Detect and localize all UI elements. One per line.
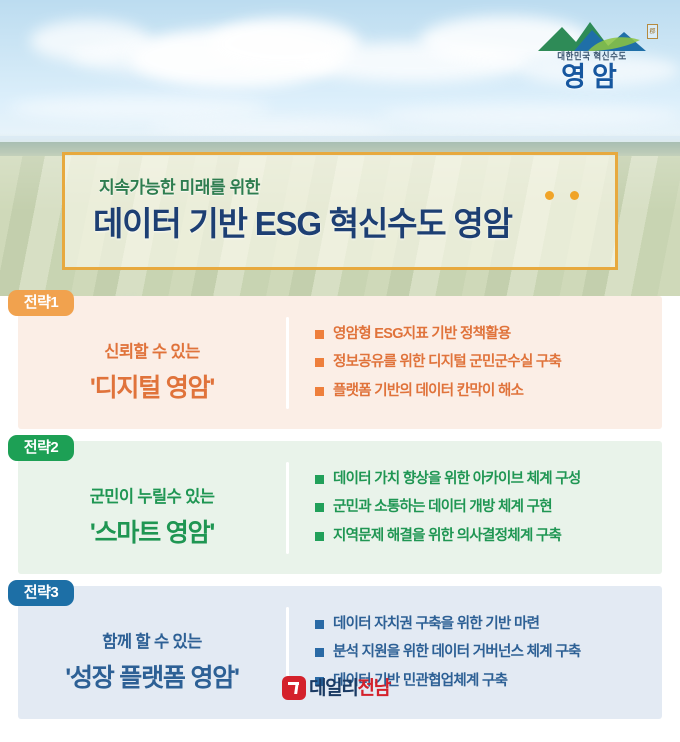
list-item: 데이터 자치권 구축을 위한 기반 마련 [315, 615, 648, 633]
cloud-shape [380, 104, 680, 126]
strategy-name-2: '스마트 영암' [18, 513, 286, 549]
title-subtitle: 지속가능한 미래를 위한 [99, 173, 260, 198]
page-title: 데이터 기반 ESG 혁신수도 영암 [93, 197, 512, 245]
list-item: 군민과 소통하는 데이터 개방 체계 구현 [315, 498, 648, 516]
strategy-lead-3: 함께 할 수 있는 [18, 628, 286, 652]
bullet-text: 영암형 ESG지표 기반 정책활용 [333, 325, 511, 343]
bullet-text: 데이터 가치 향상을 위한 아카이브 체계 구성 [333, 470, 581, 488]
strategy-card-3: 전략3 함께 할 수 있는 '성장 플랫폼 영암' 데이터 자치권 구축을 위한… [18, 586, 662, 719]
strategy-lead-1: 신뢰할 수 있는 [18, 338, 286, 362]
list-item: 데이터 가치 향상을 위한 아카이브 체계 구성 [315, 470, 648, 488]
list-item: 영암형 ESG지표 기반 정책활용 [315, 325, 648, 343]
bullet-text: 데이터 자치권 구축을 위한 기반 마련 [333, 615, 539, 633]
strategy-heading-1: 신뢰할 수 있는 '디지털 영암' [18, 322, 286, 404]
seal-icon: 郡 [647, 24, 658, 39]
strategy-card-2: 전략2 군민이 누릴수 있는 '스마트 영암' 데이터 가치 향상을 위한 아카… [18, 441, 662, 574]
strategy-bullets-2: 데이터 가치 향상을 위한 아카이브 체계 구성 군민과 소통하는 데이터 개방… [289, 460, 662, 554]
list-item: 분석 지원을 위한 데이터 거버넌스 체계 구축 [315, 643, 648, 661]
square-bullet-icon [315, 475, 324, 484]
list-item: 정보공유를 위한 디지털 군민군수실 구축 [315, 353, 648, 371]
bullet-text: 분석 지원을 위한 데이터 거버넌스 체계 구축 [333, 643, 581, 661]
strategy-list: 전략1 신뢰할 수 있는 '디지털 영암' 영암형 ESG지표 기반 정책활용 … [0, 296, 680, 731]
strategy-badge-1: 전략1 [8, 290, 74, 316]
strategy-bullets-1: 영암형 ESG지표 기반 정책활용 정보공유를 위한 디지털 군민군수실 구축 … [289, 315, 662, 409]
accent-dot-icon [545, 191, 554, 200]
logo-city-name: 영암 [528, 63, 656, 91]
strategy-heading-2: 군민이 누릴수 있는 '스마트 영암' [18, 467, 286, 549]
footer-strip [0, 720, 680, 742]
cloud-shape [150, 118, 390, 136]
square-bullet-icon [315, 503, 324, 512]
bullet-text: 플랫폼 기반의 데이터 칸막이 해소 [333, 382, 523, 400]
infographic-page: 대한민국 혁신수도 영암 郡 지속가능한 미래를 위한 데이터 기반 ESG 혁… [0, 0, 680, 742]
square-bullet-icon [315, 620, 324, 629]
bullet-text: 데이터 기반 민관협업체계 구축 [333, 672, 507, 690]
strategy-lead-2: 군민이 누릴수 있는 [18, 483, 286, 507]
strategy-name-1: '디지털 영암' [18, 368, 286, 404]
mountain-logo-icon [528, 18, 656, 52]
list-item: 데이터 기반 민관협업체계 구축 [315, 672, 648, 690]
strategy-badge-2: 전략2 [8, 435, 74, 461]
cloud-shape [10, 96, 270, 120]
square-bullet-icon [315, 358, 324, 367]
list-item: 지역문제 해결을 위한 의사결정체계 구축 [315, 527, 648, 545]
city-logo: 대한민국 혁신수도 영암 郡 [528, 18, 656, 91]
list-item: 플랫폼 기반의 데이터 칸막이 해소 [315, 382, 648, 400]
strategy-badge-3: 전략3 [8, 580, 74, 606]
strategy-heading-3: 함께 할 수 있는 '성장 플랫폼 영암' [18, 612, 286, 694]
square-bullet-icon [315, 532, 324, 541]
hero-banner: 대한민국 혁신수도 영암 郡 지속가능한 미래를 위한 데이터 기반 ESG 혁… [0, 0, 680, 296]
bullet-text: 정보공유를 위한 디지털 군민군수실 구축 [333, 353, 561, 371]
strategy-name-3: '성장 플랫폼 영암' [18, 658, 286, 694]
square-bullet-icon [315, 330, 324, 339]
accent-dot-icon [570, 191, 579, 200]
square-bullet-icon [315, 677, 324, 686]
bullet-text: 군민과 소통하는 데이터 개방 체계 구현 [333, 498, 552, 516]
strategy-card-1: 전략1 신뢰할 수 있는 '디지털 영암' 영암형 ESG지표 기반 정책활용 … [18, 296, 662, 429]
title-card: 지속가능한 미래를 위한 데이터 기반 ESG 혁신수도 영암 [62, 152, 618, 270]
logo-slogan: 대한민국 혁신수도 [528, 49, 656, 62]
accent-dots [545, 191, 579, 200]
bullet-text: 지역문제 해결을 위한 의사결정체계 구축 [333, 527, 561, 545]
strategy-bullets-3: 데이터 자치권 구축을 위한 기반 마련 분석 지원을 위한 데이터 거버넌스 … [289, 605, 662, 699]
square-bullet-icon [315, 387, 324, 396]
square-bullet-icon [315, 648, 324, 657]
